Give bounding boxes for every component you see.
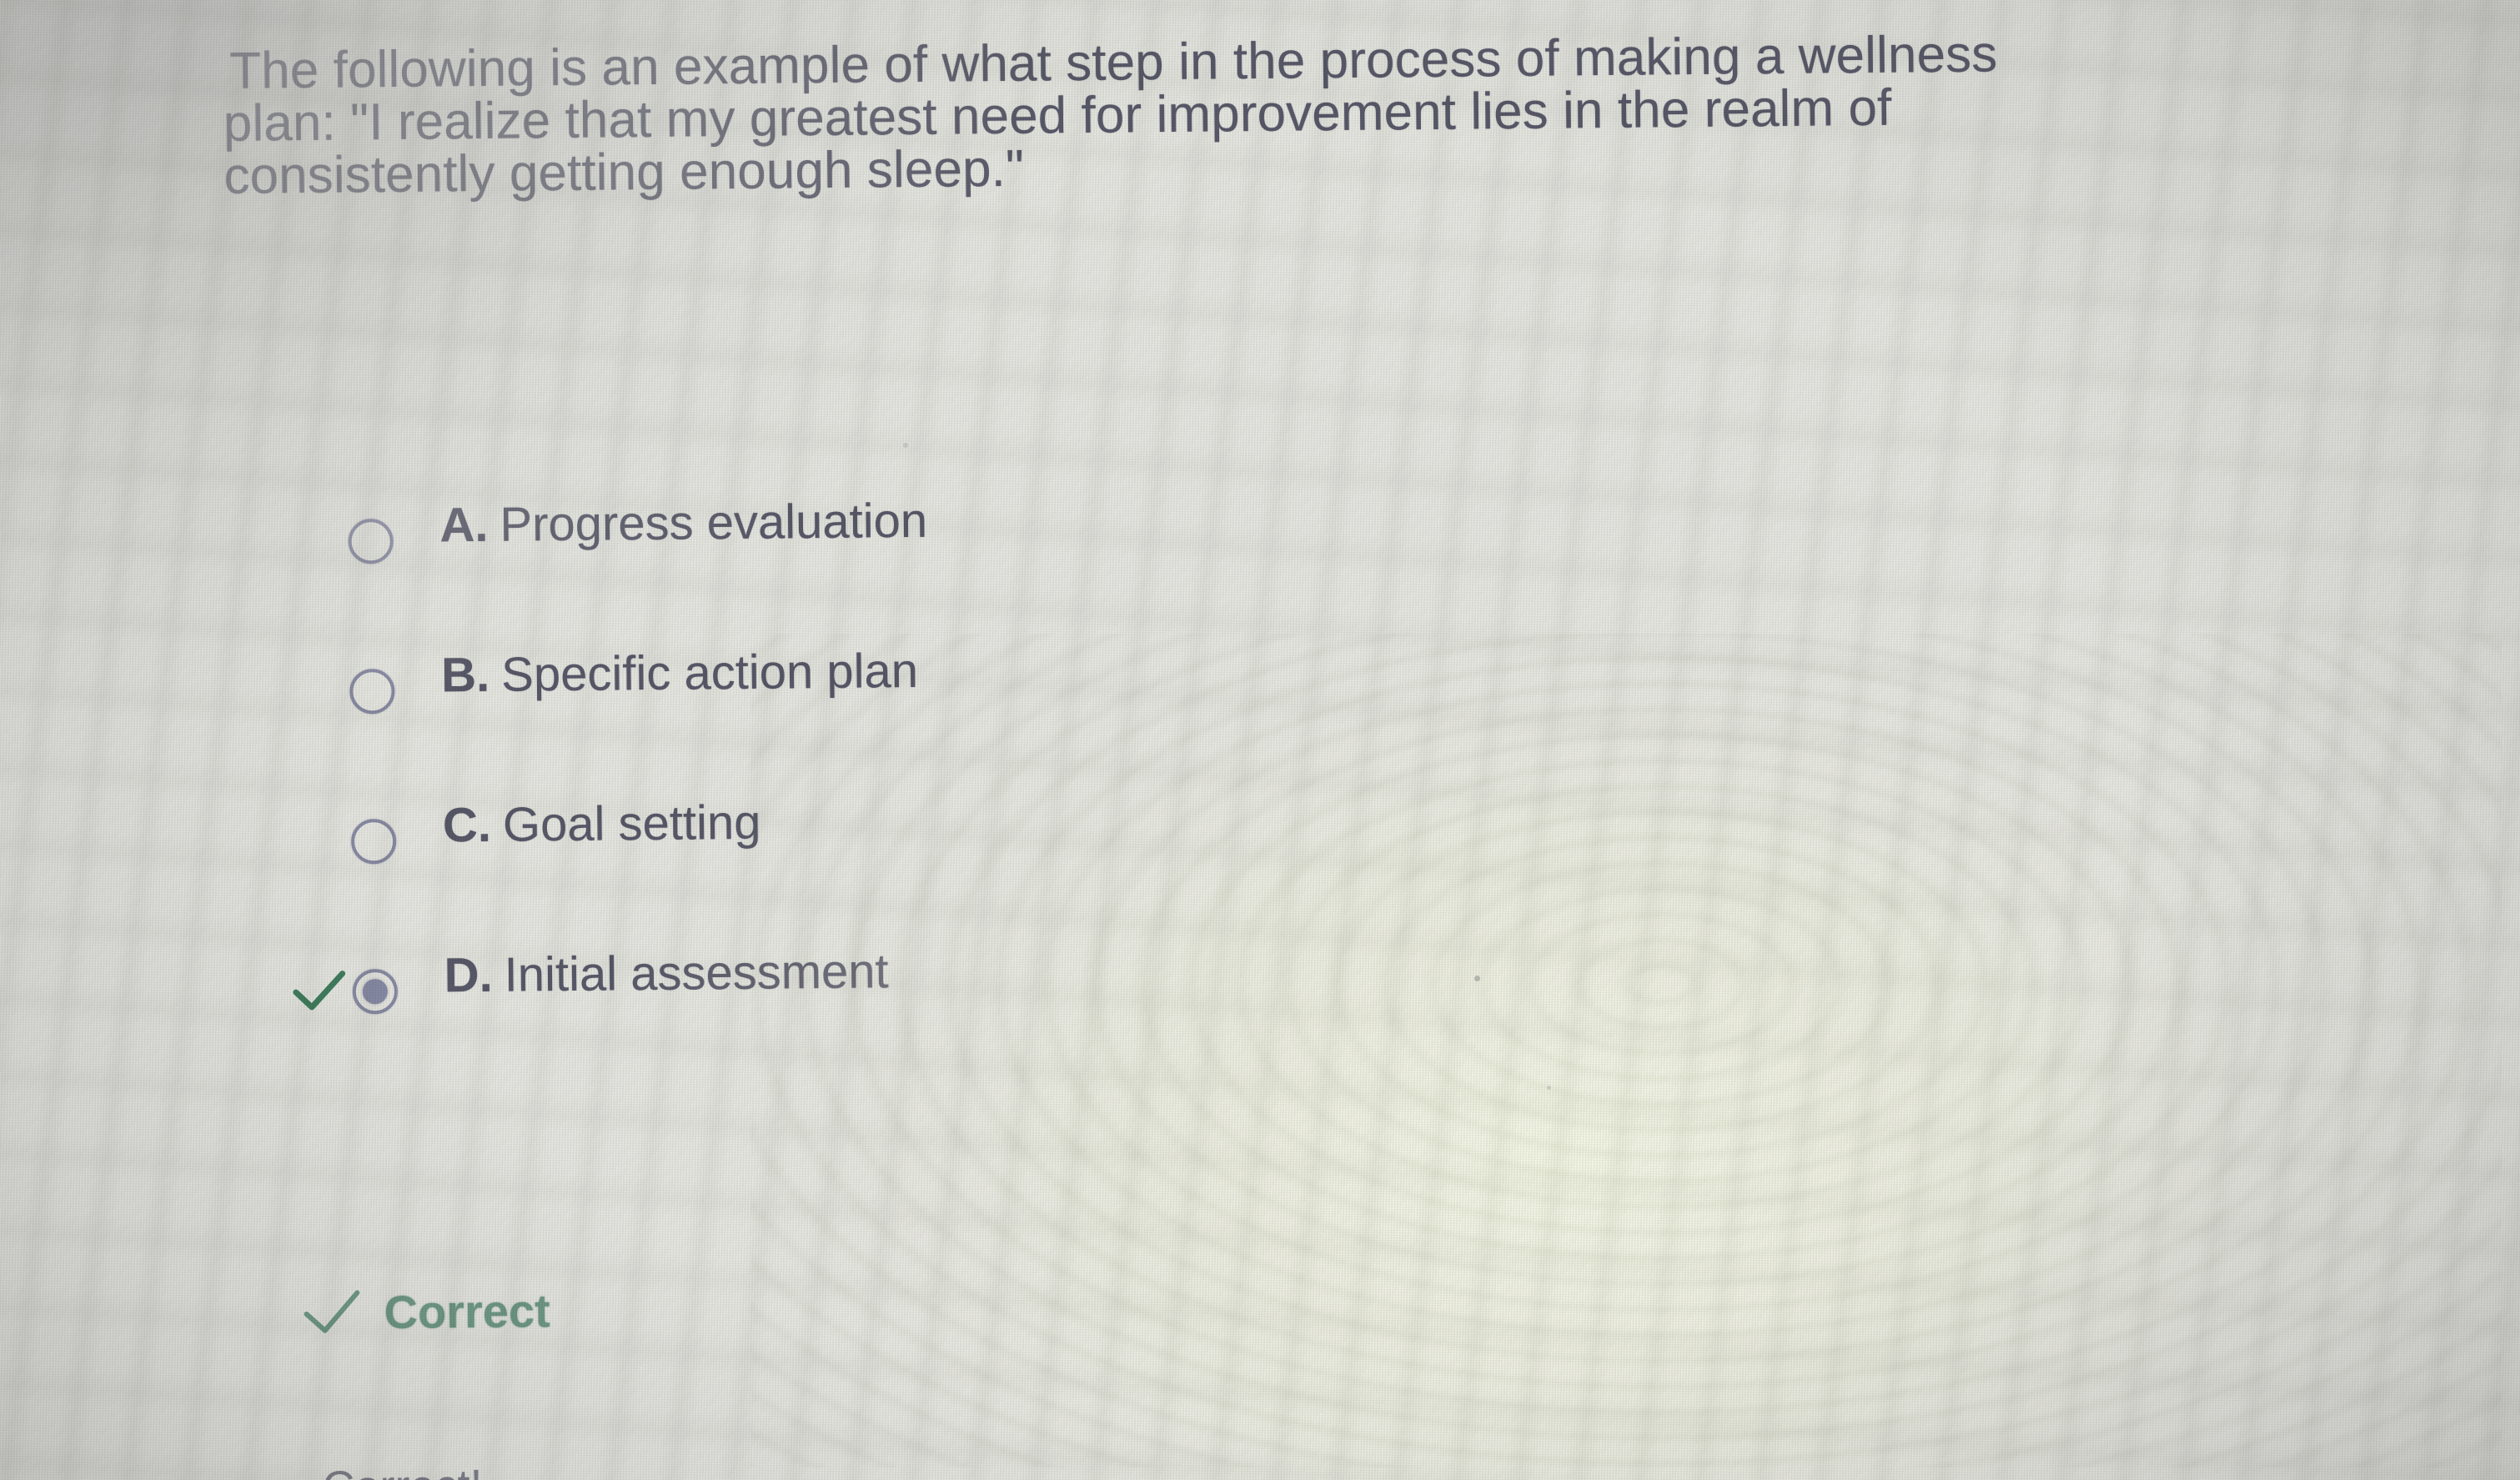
option-d-text: Initial assessment [504,944,889,1001]
option-d-letter: D. [444,948,493,1003]
dust-speck [1474,976,1480,981]
radio-dot-d [363,979,388,1004]
option-a[interactable]: A.Progress evaluation [0,472,2519,646]
option-c-letter: C. [443,798,492,853]
screen-photo: The following is an example of what step… [0,0,2520,1480]
feedback-check-icon [299,1282,364,1342]
quiz-screen: The following is an example of what step… [0,0,2520,1480]
option-a-label: A.Progress evaluation [439,497,927,550]
option-d-label: D.Initial assessment [444,947,889,1000]
option-c-correct-mark-slot [289,816,348,867]
radio-button-d[interactable] [353,969,399,1015]
option-b-correct-mark-slot [287,666,346,717]
option-a-letter: A. [439,498,489,553]
dust-speck [903,443,908,448]
option-b-letter: B. [441,648,490,703]
option-b[interactable]: B.Specific action plan [0,622,2520,796]
dust-speck [1547,1086,1551,1090]
question-stem: The following is an example of what step… [229,26,2257,203]
radio-button-b[interactable] [349,669,395,715]
answer-options-list: A.Progress evaluation B.Specific action … [0,472,2520,1096]
bottom-cut-off-text: Correct! [322,1460,482,1480]
feedback-row: Correct [299,1281,550,1342]
option-a-text: Progress evaluation [499,494,927,552]
feedback-label: Correct [384,1283,550,1339]
option-c[interactable]: C.Goal setting [1,771,2520,946]
correct-check-icon [290,966,349,1017]
option-b-label: B.Specific action plan [441,647,918,700]
radio-button-a[interactable] [348,519,394,564]
option-c-text: Goal setting [503,795,761,852]
option-c-label: C.Goal setting [443,799,761,850]
option-b-text: Specific action plan [501,644,918,702]
option-a-correct-mark-slot [285,516,344,567]
option-d[interactable]: D.Initial assessment [2,921,2520,1096]
radio-button-c[interactable] [351,819,397,865]
